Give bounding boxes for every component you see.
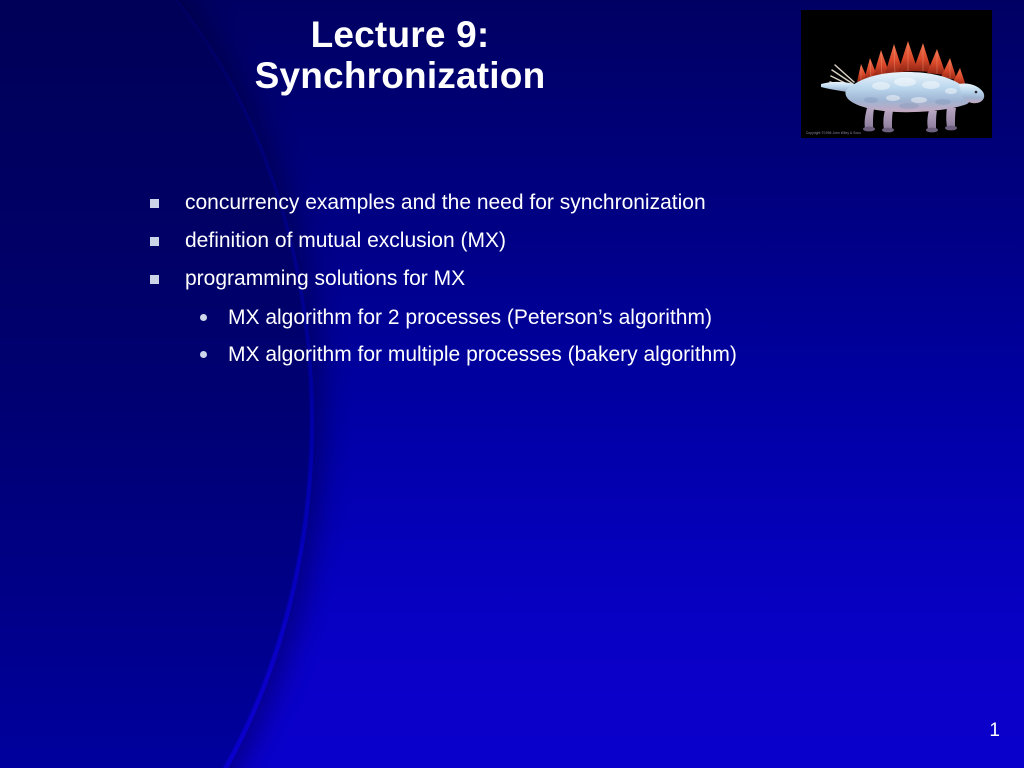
- dot-bullet-icon: [200, 314, 207, 321]
- sub-bullet-item: MX algorithm for multiple processes (bak…: [150, 339, 910, 370]
- sub-bullet-text: MX algorithm for multiple processes (bak…: [228, 339, 737, 370]
- title-line-2: Synchronization: [120, 55, 680, 96]
- bullet-text: concurrency examples and the need for sy…: [185, 188, 706, 218]
- slide-body-content: concurrency examples and the need for sy…: [150, 188, 910, 376]
- stegosaurus-image: Copyright ©1996 John Wiley & Sons: [801, 10, 992, 138]
- bullet-item: programming solutions for MX: [150, 264, 910, 294]
- presentation-slide: Lecture 9: Synchronization concurrency e…: [0, 0, 1024, 768]
- sub-bullet-text: MX algorithm for 2 processes (Peterson’s…: [228, 302, 712, 333]
- square-bullet-icon: [150, 275, 159, 284]
- square-bullet-icon: [150, 237, 159, 246]
- bullet-item: concurrency examples and the need for sy…: [150, 188, 910, 218]
- bullet-item: definition of mutual exclusion (MX): [150, 226, 910, 256]
- background-ellipse-shadow: [0, 0, 314, 768]
- stegosaurus-illustration-graphic: [801, 10, 992, 138]
- bullet-text: programming solutions for MX: [185, 264, 465, 294]
- picture-copyright-caption: Copyright ©1996 John Wiley & Sons: [806, 131, 861, 135]
- square-bullet-icon: [150, 199, 159, 208]
- page-number: 1: [989, 720, 1000, 742]
- bullet-text: definition of mutual exclusion (MX): [185, 226, 506, 256]
- dot-bullet-icon: [200, 351, 207, 358]
- slide-title: Lecture 9: Synchronization: [120, 14, 680, 96]
- sub-bullet-item: MX algorithm for 2 processes (Peterson’s…: [150, 302, 910, 333]
- title-line-1: Lecture 9:: [120, 14, 680, 55]
